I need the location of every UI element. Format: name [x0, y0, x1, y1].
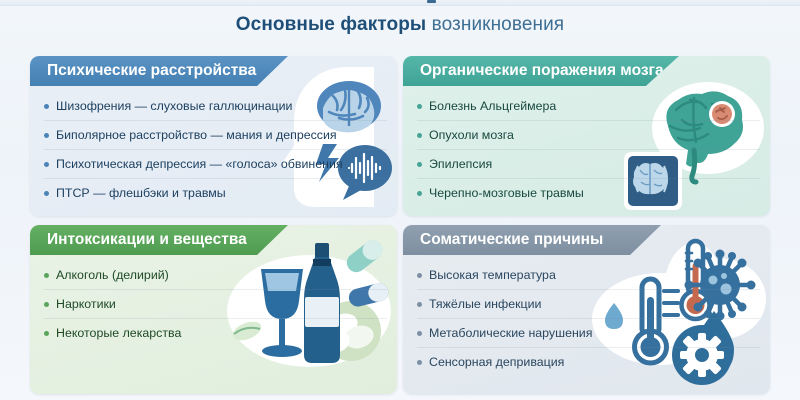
card-header-intoxications-substances: Интоксикации и вещества	[30, 225, 288, 255]
bullet-dot-icon	[44, 133, 49, 138]
bullet-dot-icon	[417, 162, 422, 167]
bullet-dot-icon	[417, 104, 422, 109]
card-intoxications-substances: Интоксикации и вещества Алкоголь (делири…	[30, 225, 397, 394]
list-item[interactable]: ПТСР — флешбэки и травмы	[44, 179, 387, 207]
list-item[interactable]: Тяжёлые инфекции	[417, 290, 760, 319]
bullet-dot-icon	[417, 331, 422, 336]
list-item-label: Алкоголь (делирий)	[56, 268, 169, 282]
cropped-element-nub	[427, 0, 436, 3]
bullet-dot-icon	[417, 360, 422, 365]
list-item-label: Наркотики	[56, 297, 116, 311]
page-title-light: возникновения	[432, 14, 565, 35]
list-item[interactable]: Болезнь Альцгеймера	[417, 92, 760, 121]
list-item[interactable]: Алкоголь (делирий)	[44, 261, 387, 290]
bullet-dot-icon	[44, 302, 49, 307]
list-item[interactable]: Сенсорная депривация	[417, 348, 760, 376]
list-item-label: Некоторые лекарства	[56, 326, 181, 340]
list-item-label: Высокая температура	[429, 268, 556, 282]
bullet-dot-icon	[417, 302, 422, 307]
list-item-label: Тяжёлые инфекции	[429, 297, 541, 311]
bullet-dot-icon	[44, 162, 49, 167]
list-item[interactable]: Высокая температура	[417, 261, 760, 290]
list-item-label: Эпилепсия	[429, 157, 492, 171]
list-item-label: Черепно-мозговые травмы	[429, 186, 584, 200]
card-organic-brain-lesions: Органические поражения мозга Болезнь Аль…	[403, 56, 770, 216]
list-item-label: Метаболические нарушения	[429, 326, 592, 340]
list-item[interactable]: Шизофрения — слуховые галлюцинации	[44, 92, 387, 121]
page-title-strong: Основные факторы	[236, 14, 426, 35]
list-item-label: Биполярное расстройство — мания и депрес…	[56, 128, 337, 142]
card-list-organic-brain-lesions: Болезнь Альцгеймера Опухоли мозга Эпилеп…	[417, 92, 760, 207]
list-item-label: ПТСР — флешбэки и травмы	[56, 186, 226, 200]
list-item-label: Опухоли мозга	[429, 128, 514, 142]
card-header-somatic-causes: Соматические причины	[403, 225, 661, 255]
page-title: Основные факторы возникновения	[0, 14, 800, 36]
card-header-organic-brain-lesions: Органические поражения мозга	[403, 56, 679, 86]
card-list-intoxications-substances: Алкоголь (делирий) Наркотики Некоторые л…	[44, 261, 387, 347]
factor-cards-grid: Психические расстройства Шизофрения — сл…	[30, 56, 770, 394]
card-somatic-causes: Соматические причины Высокая температура…	[403, 225, 770, 394]
list-item-label: Сенсорная депривация	[429, 355, 564, 369]
list-item[interactable]: Наркотики	[44, 290, 387, 319]
bullet-dot-icon	[44, 191, 49, 196]
cropped-top-strip	[0, 0, 800, 6]
list-item[interactable]: Опухоли мозга	[417, 121, 760, 150]
bullet-dot-icon	[44, 104, 49, 109]
card-list-psychiatric-disorders: Шизофрения — слуховые галлюцинации Бипол…	[44, 92, 387, 207]
list-item[interactable]: Некоторые лекарства	[44, 319, 387, 347]
list-item-label: Болезнь Альцгеймера	[429, 99, 556, 113]
list-item[interactable]: Эпилепсия	[417, 150, 760, 179]
list-item-label: Психотическая депрессия — «голоса» обвин…	[56, 157, 343, 171]
card-psychiatric-disorders: Психические расстройства Шизофрения — сл…	[30, 56, 397, 216]
bullet-dot-icon	[44, 331, 49, 336]
card-header-psychiatric-disorders: Психические расстройства	[30, 56, 288, 86]
list-item[interactable]: Метаболические нарушения	[417, 319, 760, 348]
list-item[interactable]: Черепно-мозговые травмы	[417, 179, 760, 207]
bullet-dot-icon	[417, 133, 422, 138]
bullet-dot-icon	[417, 273, 422, 278]
bullet-dot-icon	[44, 273, 49, 278]
list-item[interactable]: Биполярное расстройство — мания и депрес…	[44, 121, 387, 150]
card-list-somatic-causes: Высокая температура Тяжёлые инфекции Мет…	[417, 261, 760, 376]
bullet-dot-icon	[417, 191, 422, 196]
list-item[interactable]: Психотическая депрессия — «голоса» обвин…	[44, 150, 387, 179]
list-item-label: Шизофрения — слуховые галлюцинации	[56, 99, 292, 113]
